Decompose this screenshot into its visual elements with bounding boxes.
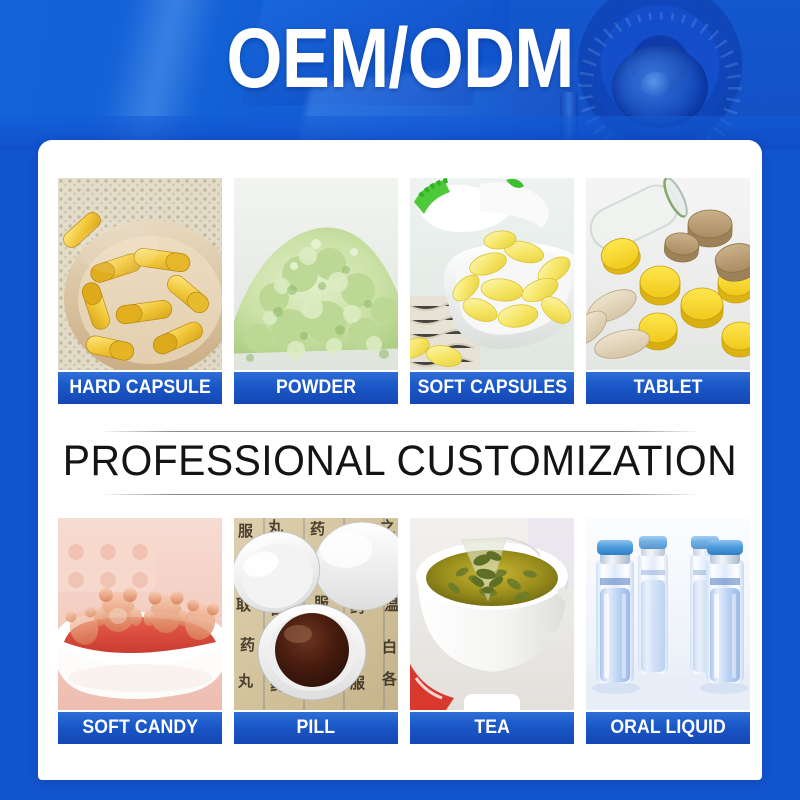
product-card-soft-capsules[interactable]: SOFT CAPSULES (410, 178, 574, 404)
product-label-tablet: TABLET (586, 372, 750, 404)
powder-photo (234, 178, 398, 370)
banner-title: PROFESSIONAL CUSTOMIZATION (63, 432, 737, 493)
soft-candy-photo (58, 518, 222, 710)
svg-text:白: 白 (382, 638, 397, 656)
svg-text:服: 服 (238, 522, 254, 540)
product-row-top: HARD CAPSULE (58, 178, 742, 404)
banner-rule-bottom (100, 494, 700, 495)
product-label-powder: POWDER (234, 372, 398, 404)
product-label-soft-candy: SOFT CANDY (58, 712, 222, 744)
hard-capsule-photo (58, 178, 222, 370)
product-card-soft-candy[interactable]: SOFT CANDY (58, 518, 222, 744)
poster-header: OEM/ODM (0, 0, 800, 150)
tablet-photo (586, 178, 750, 370)
svg-text:药: 药 (310, 520, 325, 538)
product-card-hard-capsule[interactable]: HARD CAPSULE (58, 178, 222, 404)
svg-text:丸: 丸 (237, 672, 254, 690)
product-label-soft-capsules: SOFT CAPSULES (410, 372, 574, 404)
product-card-tablet[interactable]: TABLET (586, 178, 750, 404)
soft-capsules-photo (410, 178, 574, 370)
product-label-hard-capsule: HARD CAPSULE (58, 372, 222, 404)
product-label-pill: PILL (234, 712, 398, 744)
tea-photo (410, 518, 574, 710)
product-row-bottom: SOFT CANDY (58, 518, 742, 744)
product-label-tea: TEA (410, 712, 574, 744)
page-title: OEM/ODM (56, 16, 744, 100)
section-banner: PROFESSIONAL CUSTOMIZATION (58, 422, 742, 504)
product-label-oral-liquid: ORAL LIQUID (586, 712, 750, 744)
pill-photo: 服丸药白之 温九用各丸 取白服药温 药用之丸白 丸药温服各 (234, 518, 398, 710)
product-card-powder[interactable]: POWDER (234, 178, 398, 404)
product-card-tea[interactable]: TEA (410, 518, 574, 744)
svg-text:各: 各 (381, 670, 398, 688)
product-card-oral-liquid[interactable]: ORAL LIQUID (586, 518, 750, 744)
product-card-pill[interactable]: 服丸药白之 温九用各丸 取白服药温 药用之丸白 丸药温服各 (234, 518, 398, 744)
svg-text:药: 药 (240, 636, 255, 654)
oral-liquid-photo (586, 518, 750, 710)
content-panel: HARD CAPSULE (38, 140, 762, 780)
oem-odm-poster: OEM/ODM (0, 0, 800, 800)
